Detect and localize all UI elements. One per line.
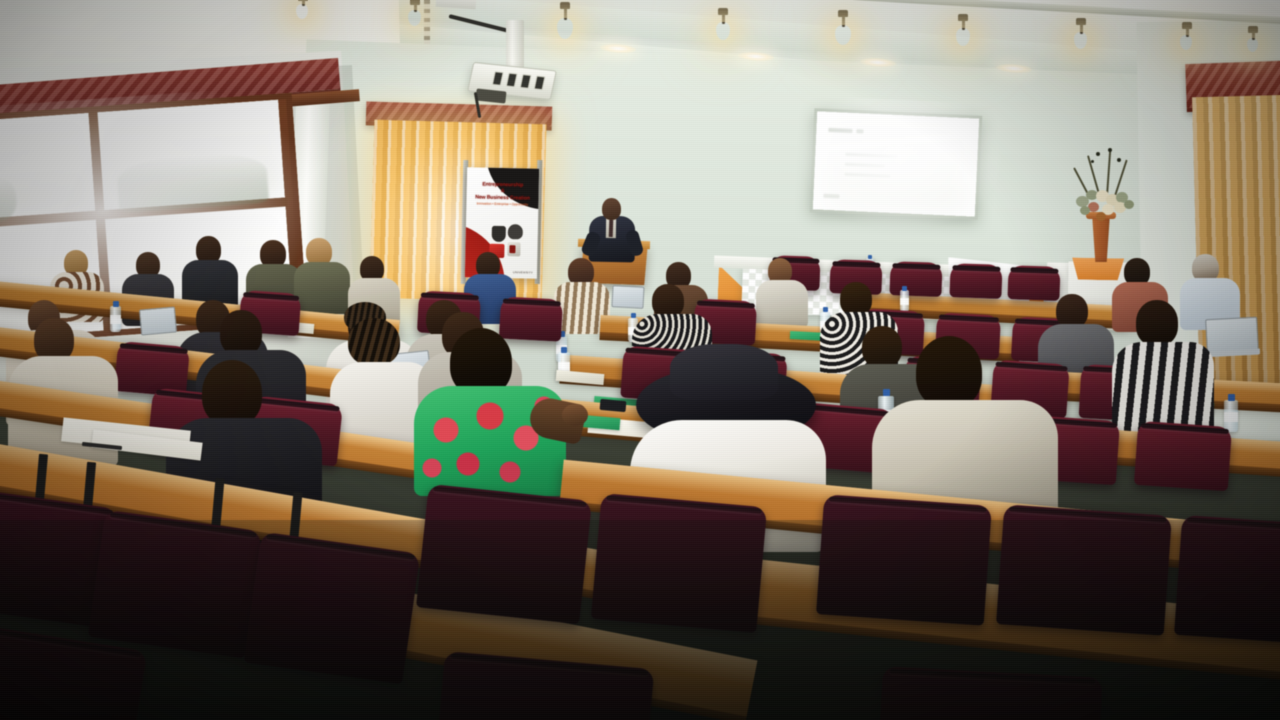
water-bottle	[1224, 400, 1238, 432]
banner-graphic-icon	[508, 224, 523, 239]
attendee-hand	[562, 404, 588, 426]
banner-subtitle: Innovation • Enterprise • Opportunity	[471, 201, 533, 207]
chair	[499, 296, 563, 341]
chair	[1134, 421, 1232, 491]
banner-graphic-icon	[492, 226, 506, 242]
banner-title: Entrepreneurship & New Business Creation	[470, 181, 534, 202]
presenter-tie	[609, 220, 614, 237]
chair	[889, 261, 942, 297]
flower-arrangement	[1058, 150, 1150, 222]
water-bottle	[110, 306, 121, 332]
projection-screen	[810, 108, 983, 220]
projection-screen-surface	[813, 111, 979, 216]
conference-hall-photograph: Entrepreneurship & New Business Creation…	[0, 0, 1280, 720]
laptop	[611, 285, 644, 309]
projector-pole	[506, 20, 524, 72]
water-bottle	[900, 290, 909, 312]
banner-graphic-icon	[509, 245, 515, 253]
chair	[949, 263, 1002, 299]
smartphone	[600, 399, 627, 412]
hat-crown	[670, 344, 778, 400]
laptop	[1205, 317, 1259, 354]
floor-shadow	[0, 520, 1280, 720]
chair	[1007, 265, 1060, 301]
presenter-head	[602, 198, 621, 220]
chair	[114, 341, 190, 397]
laptop	[139, 306, 177, 335]
